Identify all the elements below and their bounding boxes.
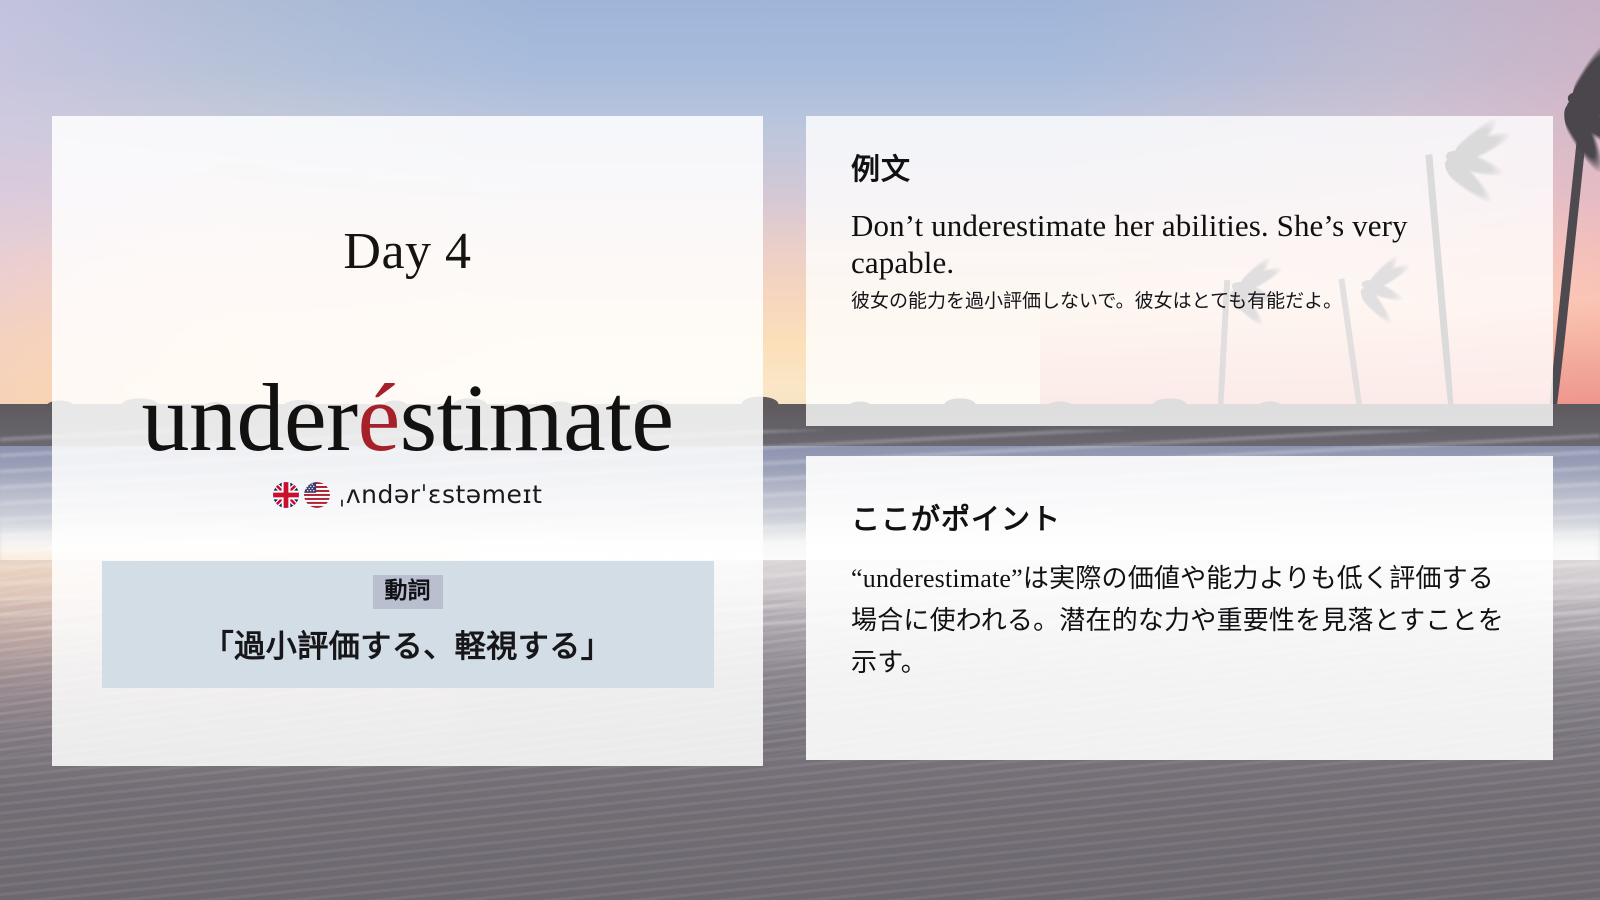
- japanese-meaning: 「過小評価する、軽視する」: [102, 621, 714, 666]
- headword-accent-letter: é: [358, 364, 400, 471]
- ipa-pronunciation: ˌʌndərˈɛstəmeɪt: [339, 480, 543, 509]
- pronunciation-row: ˌʌndərˈɛstəmeɪt: [273, 480, 543, 509]
- vocabulary-main-card: Day 4 underéstimate: [52, 116, 763, 766]
- part-of-speech-badge: 動詞: [373, 575, 443, 609]
- example-sentence-japanese: 彼女の能力を過小評価しないで。彼女はとても有能だよ。: [851, 289, 1513, 315]
- day-label: Day 4: [343, 226, 471, 278]
- uk-flag-icon: [273, 482, 299, 508]
- example-sentence-card: 例文 Don’t underestimate her abilities. Sh…: [806, 116, 1553, 426]
- point-explanation-text: “underestimate”は実際の価値や能力よりも低く評価する場合に使われる…: [851, 558, 1509, 684]
- slide-canvas: Day 4 underéstimate: [0, 0, 1600, 900]
- key-point-card: ここがポイント “underestimate”は実際の価値や能力よりも低く評価す…: [806, 456, 1553, 760]
- example-sentence-english: Don’t underestimate her abilities. She’s…: [851, 208, 1513, 281]
- example-section-title: 例文: [851, 146, 1513, 188]
- headword-suffix: stimate: [400, 364, 674, 471]
- point-section-title: ここがポイント: [851, 496, 1509, 538]
- part-of-speech-panel: 動詞 「過小評価する、軽視する」: [102, 561, 714, 688]
- headword: underéstimate: [142, 370, 674, 466]
- us-flag-icon: [304, 482, 330, 508]
- headword-prefix: under: [142, 364, 358, 471]
